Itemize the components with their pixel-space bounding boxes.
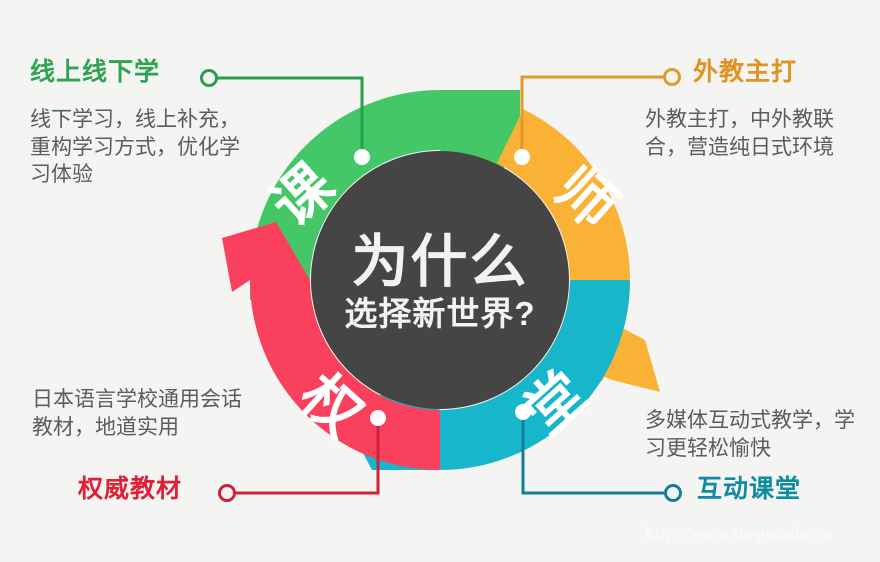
center-title-line1: 为什么 <box>352 230 529 294</box>
callout-title-bottom-left[interactable]: 权威教材 <box>78 477 182 502</box>
connector-dot-top-left[interactable] <box>354 149 370 165</box>
callout-body-top-left: 线下学习，线上补充，重构学习方式，优化学习体验 <box>30 106 255 189</box>
connector-dot-bottom-left[interactable] <box>370 410 386 426</box>
callout-body-bottom-right: 多媒体互动式教学，学习更轻松愉快 <box>645 407 873 462</box>
connector-dot-top-right[interactable] <box>514 149 530 165</box>
connector-ring-top-right[interactable] <box>665 70 680 85</box>
connector-ring-bottom-right[interactable] <box>666 486 681 501</box>
callout-title-bottom-right[interactable]: 互动课堂 <box>697 477 801 502</box>
infographic-canvas: 课 师 堂 权 为什么 选择新世界? <box>0 0 880 562</box>
connector-ring-top-left[interactable] <box>202 71 217 86</box>
connector-dot-bottom-right[interactable] <box>515 404 531 420</box>
center-title-line2: 选择新世界? <box>344 295 535 332</box>
callout-body-bottom-left: 日本语言学校通用会话教材，地道实用 <box>32 386 257 441</box>
callout-title-top-right[interactable]: 外教主打 <box>693 60 797 85</box>
callout-title-top-left[interactable]: 线上线下学 <box>30 60 160 85</box>
watermark-url: http://www.sueguoedu.cn <box>646 524 831 544</box>
callout-body-top-right: 外教主打，中外教联合，营造纯日式环境 <box>645 106 870 161</box>
connector-ring-bottom-left[interactable] <box>220 486 235 501</box>
